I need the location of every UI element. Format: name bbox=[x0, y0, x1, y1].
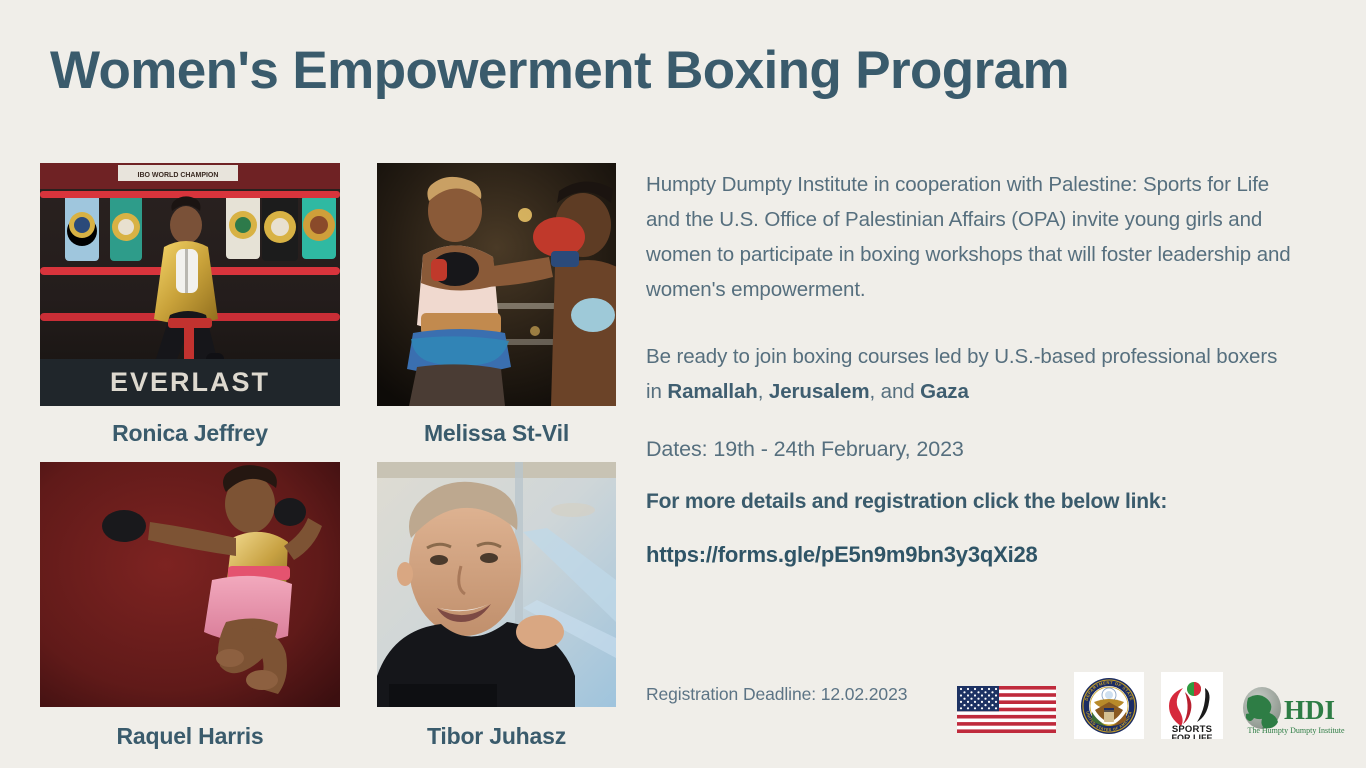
department-of-state-seal-logo: DEPARTMENT OF STATE UNITED STATES OF AME… bbox=[1074, 672, 1144, 739]
city-gaza: Gaza bbox=[920, 380, 969, 403]
athlete-photo-melissa-st-vil bbox=[377, 163, 616, 406]
description-column: Humpty Dumpty Institute in cooperation w… bbox=[646, 167, 1294, 568]
logo-strip: DEPARTMENT OF STATE UNITED STATES OF AME… bbox=[957, 672, 1357, 740]
registration-deadline: Registration Deadline: 12.02.2023 bbox=[646, 684, 907, 705]
athlete-photo-ronica-jeffrey: IBO WORLD CHAMPION bbox=[40, 163, 340, 406]
courses-paragraph: Be ready to join boxing courses led by U… bbox=[646, 339, 1294, 409]
page-title: Women's Empowerment Boxing Program bbox=[50, 41, 1320, 100]
us-flag-logo bbox=[957, 686, 1056, 733]
city-ramallah: Ramallah bbox=[667, 380, 757, 403]
city-jerusalem: Jerusalem bbox=[769, 380, 870, 403]
athlete-caption-tibor-juhasz: Tibor Juhasz bbox=[377, 723, 616, 750]
athlete-caption-ronica-jeffrey: Ronica Jeffrey bbox=[40, 420, 340, 447]
hdi-tagline: The Humpty Dumpty Institute bbox=[1247, 726, 1345, 735]
poster-canvas: Women's Empowerment Boxing Program IBO W… bbox=[0, 0, 1366, 768]
registration-cta: For more details and registration click … bbox=[646, 490, 1294, 514]
athlete-photo-raquel-harris bbox=[40, 462, 340, 707]
hdi-abbreviation: HDI bbox=[1284, 695, 1335, 725]
hdi-logo: HDI The Humpty Dumpty Institute bbox=[1238, 686, 1355, 738]
svg-text:EVERLAST: EVERLAST bbox=[110, 367, 270, 397]
athlete-caption-raquel-harris: Raquel Harris bbox=[40, 723, 340, 750]
city-separator-1: , bbox=[758, 380, 769, 403]
city-separator-2: , and bbox=[869, 380, 920, 403]
program-dates: Dates: 19th - 24th February, 2023 bbox=[646, 437, 1294, 462]
sports-for-life-logo: SPORTS FOR LIFE bbox=[1161, 672, 1223, 739]
intro-paragraph: Humpty Dumpty Institute in cooperation w… bbox=[646, 167, 1294, 307]
sports-for-life-line2: FOR LIFE bbox=[1172, 733, 1213, 739]
athlete-photo-tibor-juhasz bbox=[377, 462, 616, 707]
athlete-caption-melissa-st-vil: Melissa St-Vil bbox=[377, 420, 616, 447]
svg-text:IBO WORLD CHAMPION: IBO WORLD CHAMPION bbox=[138, 172, 219, 179]
registration-link[interactable]: https://forms.gle/pE5n9m9bn3y3qXi28 bbox=[646, 542, 1038, 567]
